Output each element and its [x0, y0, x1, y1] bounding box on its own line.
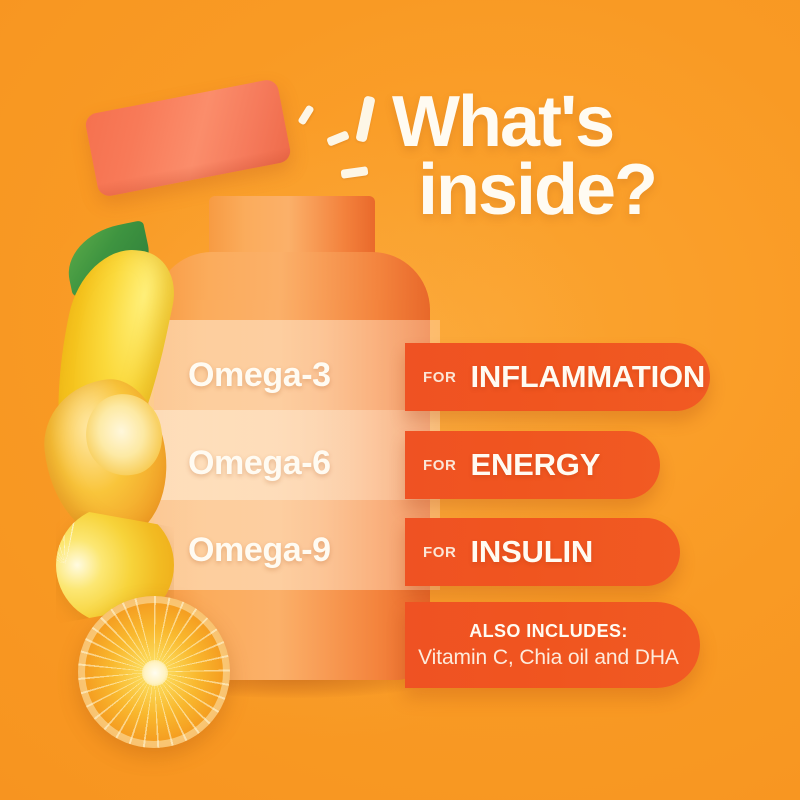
benefit-label: INFLAMMATION	[470, 359, 705, 395]
product-infographic: What's inside? Omega-3 FOR INFLAMMATION …	[0, 0, 800, 800]
benefit-label: INSULIN	[470, 534, 593, 570]
also-includes-pill: ALSO INCLUDES: Vitamin C, Chia oil and D…	[405, 602, 700, 688]
benefit-label: ENERGY	[470, 447, 600, 483]
page-title: What's inside?	[392, 88, 752, 225]
for-label: FOR	[423, 369, 456, 386]
also-includes-title: ALSO INCLUDES:	[469, 621, 628, 642]
ingredient-name: Omega-6	[188, 444, 331, 483]
for-label: FOR	[423, 457, 456, 474]
for-label: FOR	[423, 544, 456, 561]
also-includes-body: Vitamin C, Chia oil and DHA	[418, 646, 679, 670]
ingredient-name: Omega-9	[188, 531, 331, 570]
headline-line-2: inside?	[418, 156, 752, 224]
benefit-pill: FOR ENERGY	[405, 431, 660, 499]
benefit-pill: FOR INSULIN	[405, 518, 680, 586]
orange-slice-core	[142, 660, 168, 686]
ingredient-name: Omega-3	[188, 356, 331, 395]
benefit-pill: FOR INFLAMMATION	[405, 343, 710, 411]
